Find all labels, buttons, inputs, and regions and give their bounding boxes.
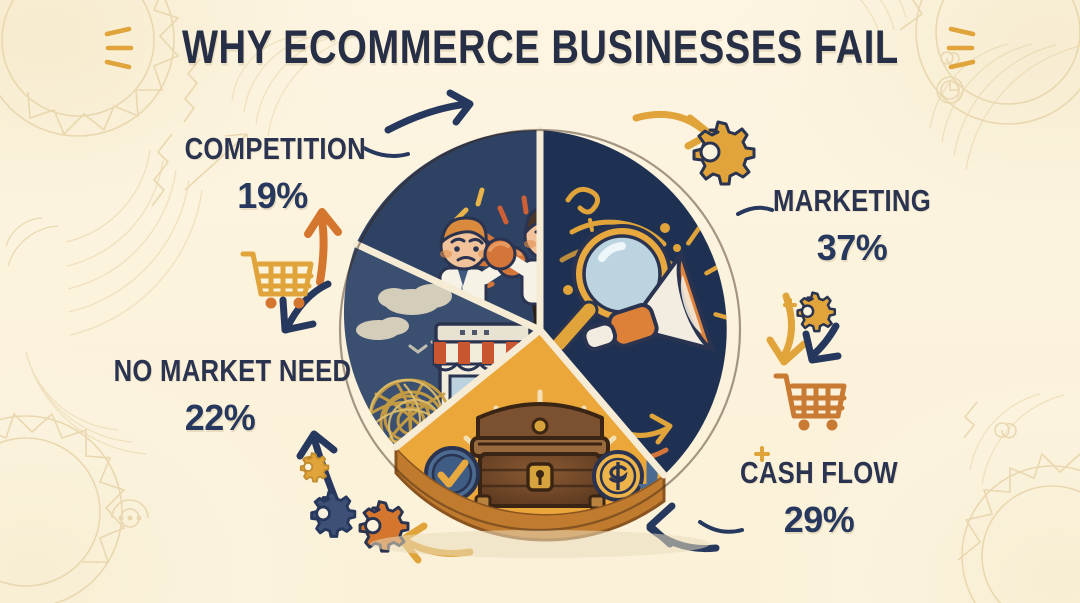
dollar-coin-icon	[594, 452, 642, 500]
sparkle-left-icon	[102, 25, 136, 71]
label-marketing: MARKETING 37%	[762, 186, 942, 269]
pie-chart-svg	[300, 92, 780, 562]
arrow-navy-down-right-icon	[806, 326, 838, 360]
shopping-cart-orange-icon	[776, 376, 844, 431]
label-competition-name: COMPETITION	[185, 132, 361, 167]
label-competition: COMPETITION 19%	[180, 134, 365, 217]
label-cash-flow-value: 29%	[728, 499, 910, 541]
pie-chart	[300, 92, 780, 562]
title-text: WHY ECOMMERCE BUSINESSES FAIL	[182, 20, 899, 75]
label-no-market-need-name: NO MARKET NEED	[114, 354, 327, 389]
label-competition-value: 19%	[180, 175, 365, 217]
label-marketing-value: 37%	[762, 227, 942, 269]
gear-gold-small-icon	[798, 293, 835, 331]
treasure-chest-icon	[472, 404, 608, 508]
label-no-market-need: NO MARKET NEED 22%	[108, 356, 332, 439]
label-no-market-need-value: 22%	[108, 397, 332, 439]
page-title: WHY ECOMMERCE BUSINESSES FAIL	[0, 24, 1080, 71]
infographic-canvas: WHY ECOMMERCE BUSINESSES FAIL	[0, 0, 1080, 603]
label-marketing-name: MARKETING	[767, 184, 938, 219]
label-cash-flow-name: CASH FLOW	[733, 456, 906, 491]
label-cash-flow: CASH FLOW 29%	[728, 458, 910, 541]
sparkle-right-icon	[944, 25, 978, 71]
